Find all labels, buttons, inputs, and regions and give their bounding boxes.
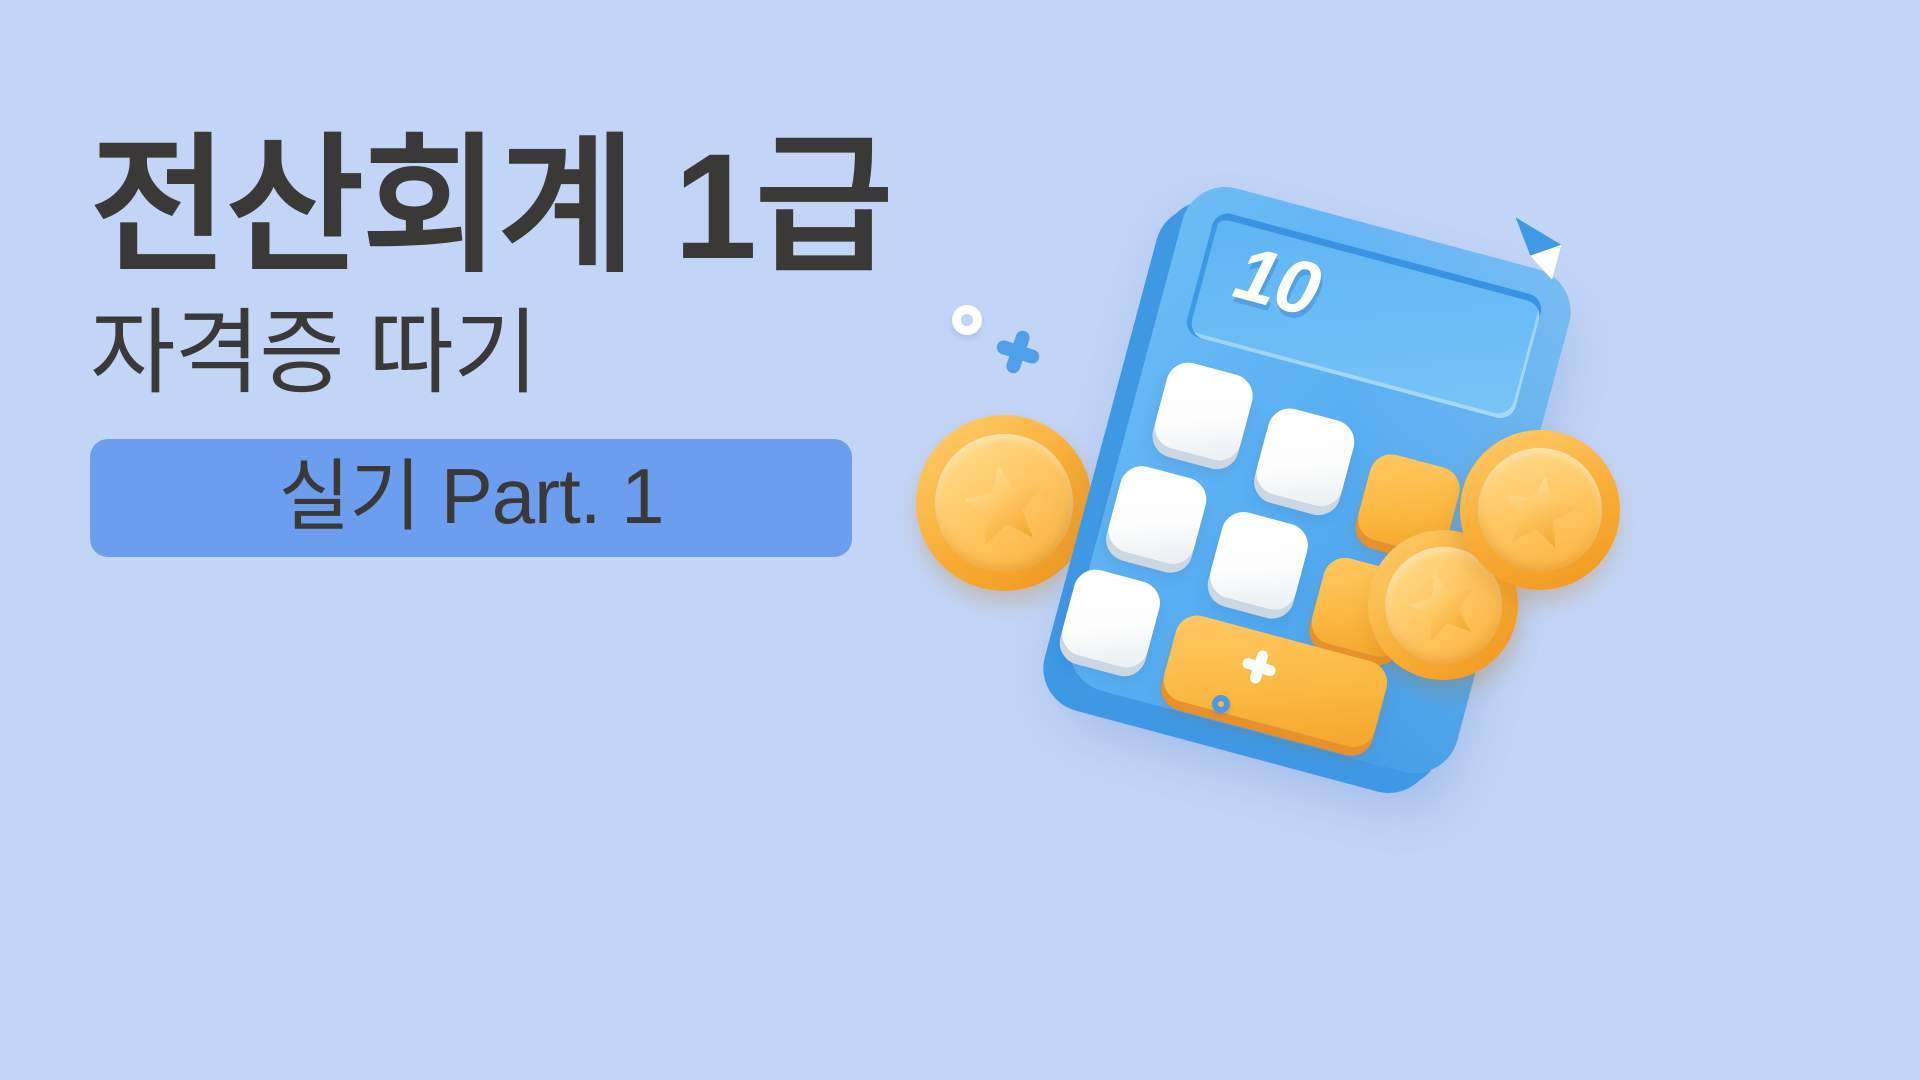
star-icon (1403, 565, 1482, 644)
star-icon (1500, 470, 1581, 551)
hero-banner: 전산회계 1급 자격증 따기 실기 Part. 1 10 (0, 0, 1920, 1080)
coin-left-icon (905, 404, 1104, 603)
calculator-key-5[interactable] (1205, 507, 1313, 615)
star-icon (961, 460, 1048, 547)
part-badge[interactable]: 실기 Part. 1 (90, 439, 852, 557)
white-ring-icon (952, 305, 982, 335)
calculator-key-1[interactable] (1150, 358, 1258, 466)
blue-cross-icon (990, 324, 1045, 379)
page-subtitle: 자격증 따기 (90, 305, 910, 403)
page-title: 전산회계 1급 (90, 130, 910, 283)
calculator-illustration: 10 (1020, 210, 1780, 910)
part-badge-label: 실기 Part. 1 (279, 452, 664, 540)
calculator-key-4[interactable] (1103, 461, 1211, 569)
blue-dot-icon (1212, 695, 1230, 713)
calculator-key-7[interactable] (1057, 565, 1165, 673)
calculator-screen-value: 10 (1227, 235, 1326, 330)
hero-text-block: 전산회계 1급 자격증 따기 실기 Part. 1 (90, 130, 910, 557)
calculator-key-2[interactable] (1251, 404, 1359, 512)
